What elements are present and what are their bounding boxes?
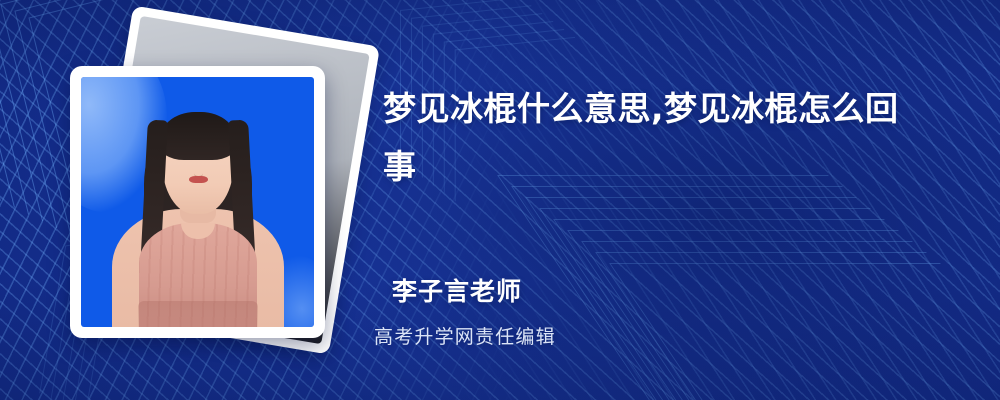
article-title: 梦见冰棍什么意思,梦见冰棍怎么回事 <box>383 80 928 196</box>
article-hero-banner: 梦见冰棍什么意思,梦见冰棍怎么回事 李子言老师 高考升学网责任编辑 <box>0 0 1000 400</box>
portrait-mouth <box>189 176 208 183</box>
photo-card-front <box>70 66 325 338</box>
author-portrait-illustration <box>81 77 314 327</box>
portrait-dress-waist <box>138 301 258 327</box>
banner-text-column: 梦见冰棍什么意思,梦见冰棍怎么回事 李子言老师 高考升学网责任编辑 <box>383 0 943 400</box>
author-role: 高考升学网责任编辑 <box>374 322 556 349</box>
author-avatar <box>81 77 314 327</box>
author-photo-stack <box>60 40 350 360</box>
portrait-hair-front <box>158 112 238 160</box>
author-name: 李子言老师 <box>392 272 522 308</box>
